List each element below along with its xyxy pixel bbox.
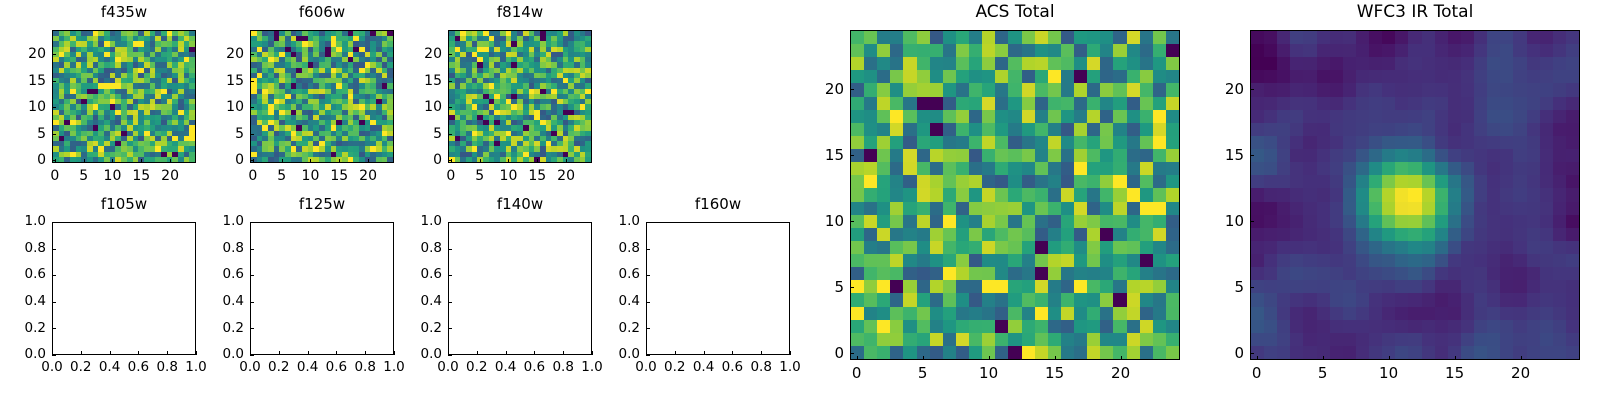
y-tick-label-f125w: 0.8 <box>188 242 244 256</box>
y-tick-mark <box>448 355 452 356</box>
y-tick-mark <box>850 89 854 90</box>
x-tick-mark <box>704 351 705 355</box>
x-tick-mark <box>253 159 254 163</box>
x-tick-mark <box>480 159 481 163</box>
y-tick-label-f125w: 0.6 <box>188 268 244 282</box>
y-tick-label-f140w: 0.8 <box>386 242 442 256</box>
y-tick-label-f160w: 0.2 <box>584 322 640 336</box>
y-tick-label-total-0: 10 <box>788 214 844 229</box>
x-tick-label-total-1: 5 <box>1293 366 1353 381</box>
panel-title-f160w: f160w <box>568 197 868 212</box>
y-tick-mark <box>250 355 254 356</box>
x-tick-mark <box>339 159 340 163</box>
y-tick-label-total-0: 20 <box>788 82 844 97</box>
y-tick-label-total-0: 15 <box>788 148 844 163</box>
y-tick-label-f105w: 0.0 <box>0 348 46 362</box>
y-tick-label-total-1: 10 <box>1188 214 1244 229</box>
y-tick-label-f606w: 0 <box>188 153 244 167</box>
x-tick-mark <box>368 159 369 163</box>
plot-area-f814w <box>448 30 592 163</box>
y-tick-label-f814w: 5 <box>386 127 442 141</box>
plot-area-f606w <box>250 30 394 163</box>
x-tick-label-f140w: 1.0 <box>562 361 622 375</box>
y-tick-mark <box>850 155 854 156</box>
y-tick-mark <box>250 302 254 303</box>
y-tick-mark <box>1250 155 1254 156</box>
y-tick-label-f160w: 0.4 <box>584 295 640 309</box>
panel-title-f814w: f814w <box>370 5 670 20</box>
x-tick-mark <box>1257 356 1258 360</box>
x-tick-mark <box>170 159 171 163</box>
y-tick-label-f105w: 1.0 <box>0 215 46 229</box>
x-tick-mark <box>508 159 509 163</box>
x-tick-label-total-0: 0 <box>827 366 887 381</box>
x-tick-label-total-0: 20 <box>1091 366 1151 381</box>
x-tick-mark <box>448 351 449 355</box>
x-tick-mark <box>52 351 53 355</box>
y-tick-mark <box>448 134 452 135</box>
x-tick-mark <box>1121 356 1122 360</box>
y-tick-label-f105w: 0.8 <box>0 242 46 256</box>
x-tick-mark <box>282 159 283 163</box>
y-tick-label-f140w: 0.4 <box>386 295 442 309</box>
panel-title-wfc3-ir-total: WFC3 IR Total <box>1265 4 1565 21</box>
y-tick-mark <box>52 275 56 276</box>
y-tick-mark <box>646 328 650 329</box>
x-tick-label-total-0: 15 <box>1025 366 1085 381</box>
y-tick-label-f160w: 0.8 <box>584 242 640 256</box>
y-tick-label-f125w: 0.0 <box>188 348 244 362</box>
y-tick-mark <box>646 222 650 223</box>
plot-area-f160w <box>646 222 790 355</box>
y-tick-label-f160w: 0.6 <box>584 268 640 282</box>
y-tick-mark <box>1250 353 1254 354</box>
y-tick-label-f105w: 0.2 <box>0 322 46 336</box>
y-tick-label-f814w: 20 <box>386 47 442 61</box>
y-tick-label-f140w: 0.6 <box>386 268 442 282</box>
x-tick-mark <box>167 351 168 355</box>
x-tick-mark <box>84 159 85 163</box>
y-tick-mark <box>250 249 254 250</box>
y-tick-mark <box>52 54 56 55</box>
y-tick-label-f160w: 0.0 <box>584 348 640 362</box>
x-tick-mark <box>1323 356 1324 360</box>
y-tick-mark <box>250 222 254 223</box>
y-tick-mark <box>250 81 254 82</box>
y-tick-label-f814w: 0 <box>386 153 442 167</box>
y-tick-label-f814w: 15 <box>386 74 442 88</box>
x-tick-mark <box>732 351 733 355</box>
y-tick-mark <box>52 249 56 250</box>
x-tick-mark <box>55 159 56 163</box>
y-tick-mark <box>448 81 452 82</box>
y-tick-label-f606w: 5 <box>188 127 244 141</box>
y-tick-mark <box>1250 287 1254 288</box>
y-tick-label-total-1: 15 <box>1188 148 1244 163</box>
y-tick-mark <box>250 134 254 135</box>
x-tick-mark <box>336 351 337 355</box>
y-tick-mark <box>850 221 854 222</box>
x-tick-label-f125w: 1.0 <box>364 361 424 375</box>
figure-canvas: f435w0510152005101520f606w05101520051015… <box>0 0 1600 400</box>
y-tick-mark <box>250 54 254 55</box>
y-tick-label-f140w: 0.2 <box>386 322 442 336</box>
x-tick-mark <box>563 351 564 355</box>
x-tick-mark <box>141 159 142 163</box>
y-tick-label-f125w: 0.2 <box>188 322 244 336</box>
x-tick-mark <box>923 356 924 360</box>
plot-area-acs-total <box>850 30 1180 360</box>
y-tick-mark <box>1250 221 1254 222</box>
x-tick-mark <box>308 351 309 355</box>
plot-area-wfc3-ir-total <box>1250 30 1580 360</box>
heatmap-pixels <box>53 31 195 162</box>
y-tick-mark <box>646 355 650 356</box>
x-tick-mark <box>138 351 139 355</box>
y-tick-mark <box>646 302 650 303</box>
x-tick-label-f814w: 20 <box>536 169 596 183</box>
x-tick-label-f606w: 20 <box>338 169 398 183</box>
y-tick-mark <box>52 328 56 329</box>
y-tick-mark <box>448 249 452 250</box>
y-tick-mark <box>448 275 452 276</box>
y-tick-mark <box>52 355 56 356</box>
y-tick-label-total-0: 5 <box>788 280 844 295</box>
x-tick-mark <box>534 351 535 355</box>
y-tick-label-f435w: 5 <box>0 127 46 141</box>
y-tick-mark <box>448 107 452 108</box>
y-tick-label-total-0: 0 <box>788 346 844 361</box>
y-tick-label-f140w: 1.0 <box>386 215 442 229</box>
y-tick-mark <box>250 275 254 276</box>
y-tick-label-total-1: 5 <box>1188 280 1244 295</box>
x-tick-mark <box>1455 356 1456 360</box>
y-tick-mark <box>850 287 854 288</box>
y-tick-label-f435w: 0 <box>0 153 46 167</box>
y-tick-label-f435w: 10 <box>0 100 46 114</box>
y-tick-label-f105w: 0.6 <box>0 268 46 282</box>
y-tick-label-total-1: 0 <box>1188 346 1244 361</box>
x-tick-mark <box>110 351 111 355</box>
x-tick-label-f105w: 1.0 <box>166 361 226 375</box>
plot-area-f140w <box>448 222 592 355</box>
plot-area-f105w <box>52 222 196 355</box>
x-tick-mark <box>646 351 647 355</box>
x-tick-mark <box>566 159 567 163</box>
x-tick-label-total-1: 0 <box>1227 366 1287 381</box>
y-tick-mark <box>646 275 650 276</box>
x-tick-label-total-1: 10 <box>1359 366 1419 381</box>
plot-area-f125w <box>250 222 394 355</box>
y-tick-label-f125w: 1.0 <box>188 215 244 229</box>
x-tick-label-f435w: 20 <box>140 169 200 183</box>
x-tick-mark <box>675 351 676 355</box>
y-tick-mark <box>646 249 650 250</box>
x-tick-mark <box>365 351 366 355</box>
x-tick-label-total-0: 10 <box>959 366 1019 381</box>
y-tick-mark <box>52 134 56 135</box>
x-tick-mark <box>477 351 478 355</box>
y-tick-label-f606w: 15 <box>188 74 244 88</box>
x-tick-mark <box>1055 356 1056 360</box>
x-tick-mark <box>761 351 762 355</box>
y-tick-mark <box>448 54 452 55</box>
x-tick-mark <box>989 356 990 360</box>
x-tick-mark <box>1389 356 1390 360</box>
y-tick-label-f105w: 0.4 <box>0 295 46 309</box>
y-tick-label-f606w: 10 <box>188 100 244 114</box>
y-tick-label-f814w: 10 <box>386 100 442 114</box>
y-tick-label-f160w: 1.0 <box>584 215 640 229</box>
y-tick-mark <box>52 107 56 108</box>
x-tick-mark <box>250 351 251 355</box>
x-tick-mark <box>81 351 82 355</box>
x-tick-mark <box>112 159 113 163</box>
x-tick-mark <box>506 351 507 355</box>
y-tick-mark <box>448 328 452 329</box>
y-tick-mark <box>52 222 56 223</box>
y-tick-mark <box>52 81 56 82</box>
y-tick-label-f140w: 0.0 <box>386 348 442 362</box>
x-tick-label-total-1: 15 <box>1425 366 1485 381</box>
x-tick-mark <box>279 351 280 355</box>
panel-title-acs-total: ACS Total <box>865 4 1165 21</box>
y-tick-label-total-1: 20 <box>1188 82 1244 97</box>
x-tick-label-total-0: 5 <box>893 366 953 381</box>
x-tick-mark <box>451 159 452 163</box>
x-tick-label-f160w: 1.0 <box>760 361 820 375</box>
y-tick-mark <box>250 328 254 329</box>
y-tick-label-f606w: 20 <box>188 47 244 61</box>
x-tick-mark <box>1521 356 1522 360</box>
y-tick-label-f435w: 20 <box>0 47 46 61</box>
y-tick-label-f125w: 0.4 <box>188 295 244 309</box>
y-tick-mark <box>1250 89 1254 90</box>
y-tick-mark <box>448 222 452 223</box>
heatmap-pixels <box>251 31 393 162</box>
x-tick-mark <box>857 356 858 360</box>
heatmap-pixels <box>449 31 591 162</box>
y-tick-mark <box>250 107 254 108</box>
heatmap-pixels <box>1251 31 1579 359</box>
y-tick-mark <box>52 302 56 303</box>
x-tick-label-total-1: 20 <box>1491 366 1551 381</box>
heatmap-pixels <box>851 31 1179 359</box>
y-tick-label-f435w: 15 <box>0 74 46 88</box>
plot-area-f435w <box>52 30 196 163</box>
x-tick-mark <box>310 159 311 163</box>
y-tick-mark <box>448 302 452 303</box>
x-tick-mark <box>537 159 538 163</box>
y-tick-mark <box>850 353 854 354</box>
